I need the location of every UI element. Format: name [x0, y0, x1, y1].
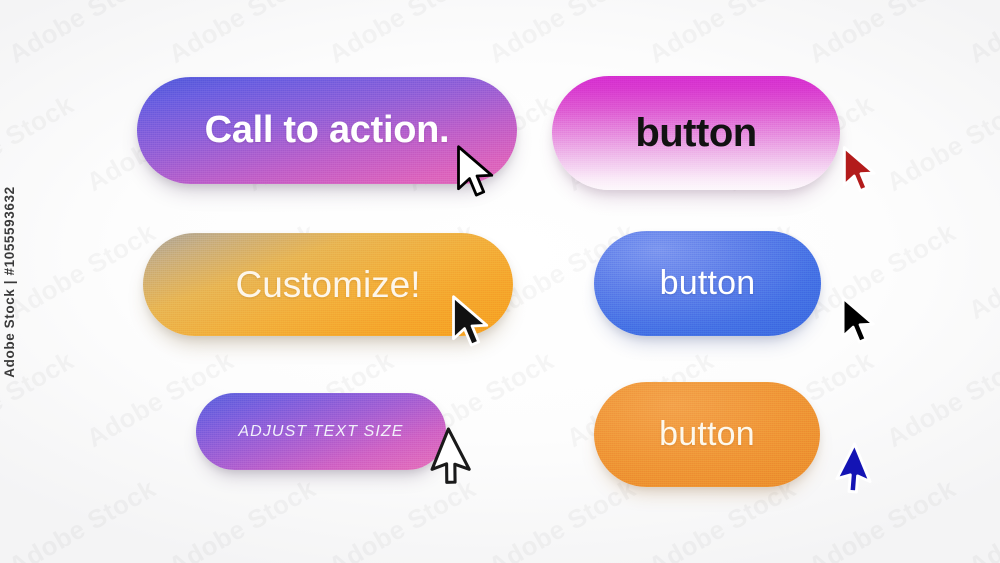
adjust-text-size-button-label: ADJUST TEXT SIZE — [238, 423, 403, 441]
watermark-text: Adobe Stock — [163, 0, 321, 70]
watermark-text: Adobe Stock — [881, 89, 1000, 198]
mouse-cursor-icon-blue — [840, 296, 878, 348]
mouse-cursor-icon-orange — [828, 441, 887, 505]
magenta-button[interactable]: button — [552, 76, 840, 190]
watermark-text: Adobe Stock — [3, 217, 161, 326]
watermark-text: Adobe Stock — [483, 0, 641, 70]
watermark-text: Adobe Stock — [0, 89, 79, 198]
watermark-text: Adobe Stock — [483, 473, 641, 563]
customize-button-label: Customize! — [235, 264, 420, 306]
customize-button[interactable]: Customize! — [143, 233, 513, 336]
mouse-cursor-icon-magenta — [841, 146, 879, 196]
adjust-text-size-button[interactable]: ADJUST TEXT SIZE — [196, 393, 446, 470]
magenta-button-label: button — [635, 111, 756, 156]
call-to-action-button[interactable]: Call to action. — [137, 77, 517, 184]
watermark-text: Adobe Stock — [803, 473, 961, 563]
watermark-text: Adobe Stock — [881, 345, 1000, 454]
watermark-text: Adobe Stock — [0, 0, 1, 70]
watermark-text: Adobe Stock — [643, 0, 801, 70]
blue-button[interactable]: button — [594, 231, 821, 336]
watermark-text: Adobe Stock — [0, 473, 1, 563]
watermark-text: Adobe Stock — [963, 473, 1000, 563]
orange-button-label: button — [659, 415, 755, 454]
stock-credit-label: Adobe Stock | #1055593632 — [2, 186, 17, 377]
watermark-text: Adobe Stock — [963, 0, 1000, 70]
watermark-text: Adobe Stock — [3, 0, 161, 70]
watermark-text: Adobe Stock — [323, 0, 481, 70]
watermark-text: Adobe Stock — [803, 0, 961, 70]
watermark-text: Adobe Stock — [963, 217, 1000, 326]
watermark-text: Adobe Stock — [3, 473, 161, 563]
button-showcase-canvas: Adobe StockAdobe StockAdobe StockAdobe S… — [0, 0, 1000, 563]
orange-button[interactable]: button — [594, 382, 820, 487]
watermark-text: Adobe Stock — [163, 473, 321, 563]
watermark-text: Adobe Stock — [0, 217, 1, 326]
watermark-text: Adobe Stock — [803, 217, 961, 326]
call-to-action-button-label: Call to action. — [205, 109, 450, 152]
watermark-text: Adobe Stock — [323, 473, 481, 563]
blue-button-label: button — [660, 264, 756, 303]
